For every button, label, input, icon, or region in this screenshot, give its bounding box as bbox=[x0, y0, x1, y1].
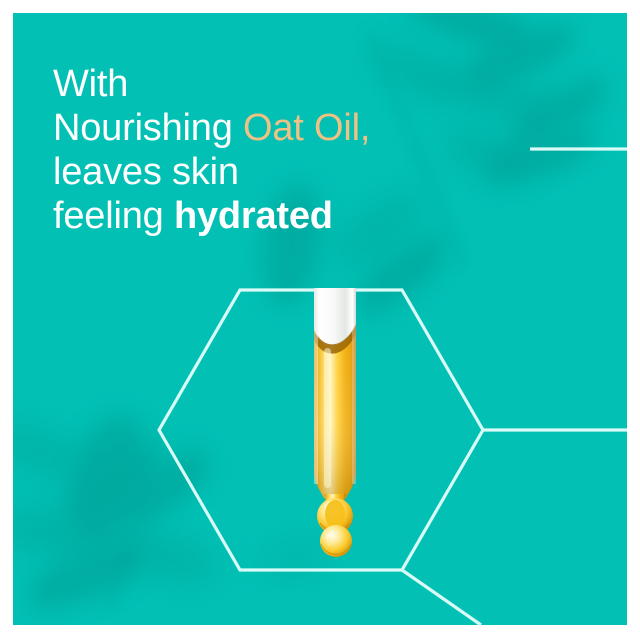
leaf-stem-shadow bbox=[106, 436, 160, 610]
leaf-shadow bbox=[482, 124, 598, 186]
headline-line-3-text: leaves skin bbox=[53, 151, 239, 193]
headline-line-4: feeling hydrated bbox=[53, 194, 473, 238]
pipette-specular-highlight bbox=[324, 348, 331, 488]
leaf-shadow bbox=[503, 73, 614, 149]
headline-line-2: Nourishing Oat Oil, bbox=[53, 106, 473, 150]
falling-oil-droplet bbox=[319, 524, 353, 558]
headline-accent-oat-oil: Oat Oil, bbox=[243, 107, 370, 149]
droplet-body bbox=[320, 525, 352, 557]
leaf-shadow bbox=[50, 441, 179, 534]
headline-line-1: With bbox=[53, 62, 473, 106]
leaf-shadow bbox=[461, 20, 580, 91]
headline-line-2-plain: Nourishing bbox=[53, 107, 243, 149]
headline-line-3: leaves skin bbox=[53, 150, 473, 194]
headline-line-1-text: With bbox=[53, 63, 128, 105]
headline-line-4-plain: feeling bbox=[53, 195, 174, 237]
teal-panel: With Nourishing Oat Oil, leaves skin fee… bbox=[13, 13, 627, 625]
pipette-glass-left-edge bbox=[314, 288, 318, 484]
headline-emphasis-hydrated: hydrated bbox=[174, 195, 333, 237]
oil-dropper-pipette bbox=[302, 288, 368, 558]
leaf-shadow bbox=[13, 496, 113, 575]
pipette-glass-right-edge bbox=[352, 288, 356, 484]
headline: With Nourishing Oat Oil, leaves skin fee… bbox=[53, 62, 473, 238]
leaf-shadow bbox=[118, 445, 221, 530]
leaf-shadow bbox=[407, 13, 533, 67]
hexagon-partial-outline bbox=[402, 570, 481, 625]
promo-banner: With Nourishing Oat Oil, leaves skin fee… bbox=[0, 0, 640, 640]
leaf-shadow bbox=[23, 539, 151, 613]
leaf-shadow bbox=[105, 513, 219, 594]
leaf-shadow bbox=[58, 406, 160, 551]
leaf-shadow bbox=[13, 413, 92, 492]
